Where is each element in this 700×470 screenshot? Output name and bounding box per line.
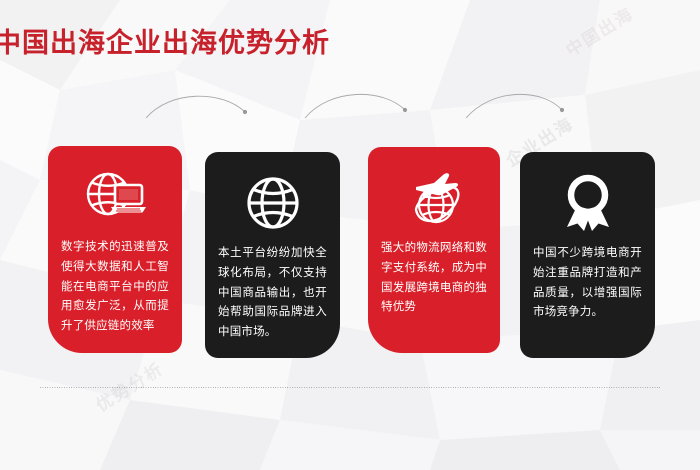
advantage-card[interactable]: 中国不少跨境电商开始注重品牌打造和产品质量，以增强国际市场竞争力。 bbox=[520, 152, 655, 358]
airplane-globe-icon bbox=[368, 165, 500, 231]
slide-canvas: 企业出海 出海企业 优势分析 中国出海 中国出海企业出海优势分析 bbox=[0, 0, 700, 470]
advantage-card-text: 数字技术的迅速普及使得大数据和人工智能在电商平台中的应用愈发广泛，从而提升了供应… bbox=[48, 238, 182, 337]
advantage-card[interactable]: 数字技术的迅速普及使得大数据和人工智能在电商平台中的应用愈发广泛，从而提升了供应… bbox=[48, 146, 182, 353]
bottom-divider bbox=[40, 387, 660, 388]
advantage-card-text: 强大的物流网络和数字支付系统，成为中国发展跨境电商的独特优势 bbox=[368, 239, 500, 318]
advantage-card[interactable]: 强大的物流网络和数字支付系统，成为中国发展跨境电商的独特优势 bbox=[368, 147, 500, 353]
advantage-card[interactable]: 本土平台纷纷加快全球化布局，不仅支持中国商品输出，也开始帮助国际品牌进入中国市场… bbox=[205, 152, 340, 358]
globe-icon bbox=[205, 170, 340, 236]
advantage-card-text: 中国不少跨境电商开始注重品牌打造和产品质量，以增强国际市场竞争力。 bbox=[520, 244, 655, 323]
advantage-card-row: 数字技术的迅速普及使得大数据和人工智能在电商平台中的应用愈发广泛，从而提升了供应… bbox=[0, 0, 700, 470]
award-ribbon-icon bbox=[520, 170, 655, 236]
advantage-card-text: 本土平台纷纷加快全球化布局，不仅支持中国商品输出，也开始帮助国际品牌进入中国市场… bbox=[205, 244, 340, 343]
globe-laptop-icon bbox=[48, 164, 182, 230]
